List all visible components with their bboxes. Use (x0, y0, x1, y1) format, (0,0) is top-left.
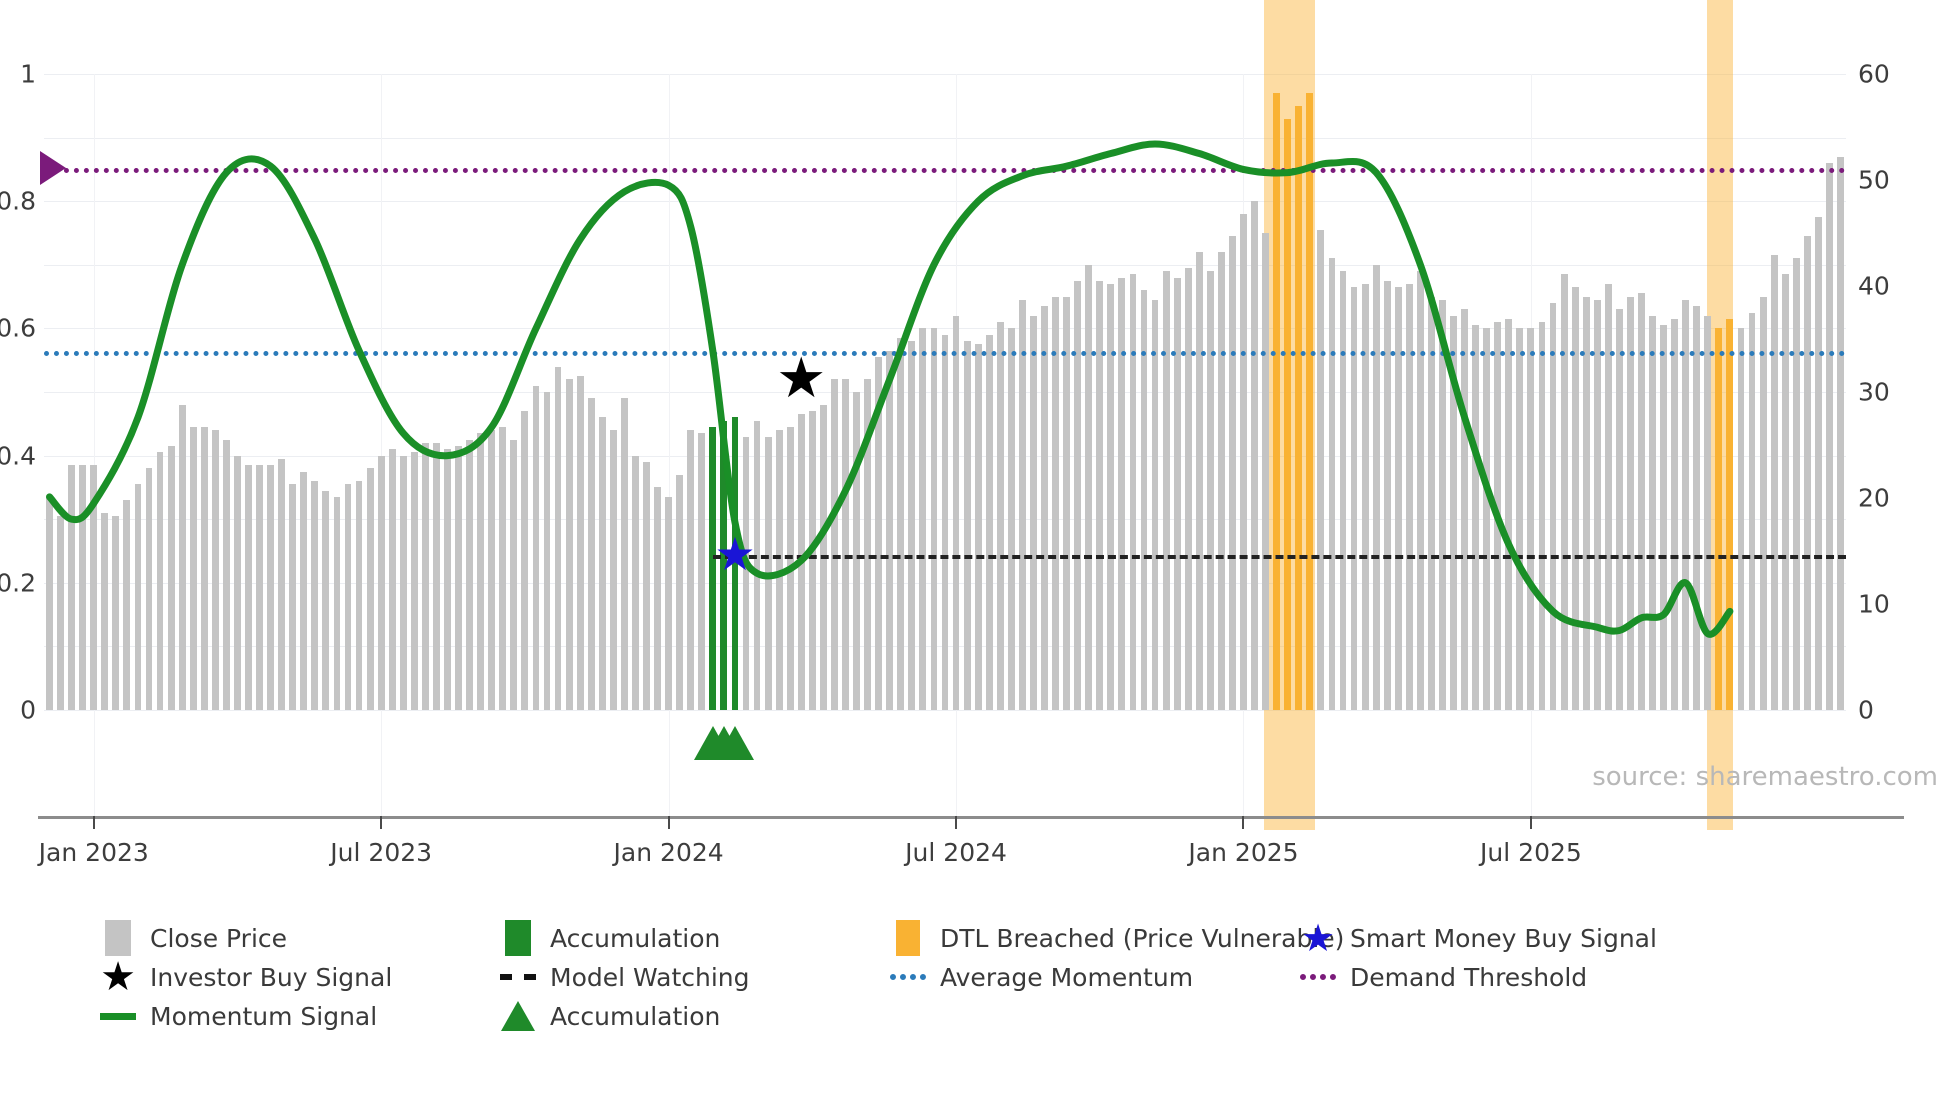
legend-swatch-shape (505, 920, 531, 956)
legend-swatch-shape (896, 920, 920, 956)
y-axis-right-tick: 50 (1858, 168, 1890, 193)
legend-swatch-line-dot-purple-icon (1300, 959, 1336, 995)
legend-item[interactable]: DTL Breached (Price Vulnerable) (890, 920, 1344, 956)
accumulation-triangle-icon (716, 726, 754, 760)
y-axis-right-tick: 20 (1858, 486, 1890, 511)
legend-item[interactable]: Demand Threshold (1300, 959, 1587, 995)
legend-item[interactable]: Momentum Signal (100, 998, 377, 1034)
x-axis-tick-label: Jan 2024 (614, 838, 724, 867)
y-axis-right-tick: 0 (1858, 698, 1874, 723)
y-axis-left-tick: 0.8 (0, 189, 36, 214)
y-axis-left-tick: 0 (20, 698, 36, 723)
chart-legend: Close PriceAccumulationDTL Breached (Pri… (100, 920, 1910, 1037)
legend-label: Model Watching (550, 963, 750, 992)
legend-label: Close Price (150, 924, 287, 953)
legend-swatch-rect-gray-icon (100, 920, 136, 956)
legend-swatch-star-blue-icon: ★ (1300, 920, 1336, 956)
x-axis-tick-mark (1242, 816, 1244, 829)
legend-swatch-shape (105, 920, 131, 956)
legend-label: Demand Threshold (1350, 963, 1587, 992)
legend-swatch-shape: ★ (1301, 919, 1335, 957)
x-axis-tick-mark (668, 816, 670, 829)
x-axis-tick-label: Jul 2023 (330, 838, 432, 867)
x-axis-tick-label: Jan 2025 (1188, 838, 1298, 867)
smart-money-buy-signal-marker: ★ (714, 531, 755, 577)
x-axis-tick-label: Jul 2024 (905, 838, 1007, 867)
legend-label: Accumulation (550, 1002, 720, 1031)
x-axis-tick-mark (93, 816, 95, 829)
legend-item[interactable]: ★Smart Money Buy Signal (1300, 920, 1657, 956)
y-axis-right-tick: 30 (1858, 380, 1890, 405)
legend-row: Close PriceAccumulationDTL Breached (Pri… (100, 920, 1910, 959)
y-axis-right: 0102030405060 (1852, 74, 1922, 710)
legend-item[interactable]: Average Momentum (890, 959, 1193, 995)
legend-item[interactable]: Close Price (100, 920, 287, 956)
legend-row: ★Investor Buy SignalModel WatchingAverag… (100, 959, 1910, 998)
legend-swatch-line-dashed-icon (500, 959, 536, 995)
legend-item[interactable]: ★Investor Buy Signal (100, 959, 392, 995)
x-axis-tick-label: Jan 2023 (39, 838, 149, 867)
legend-item[interactable]: Model Watching (500, 959, 750, 995)
x-axis-tick-mark (955, 816, 957, 829)
gridline (44, 710, 1846, 711)
legend-swatch-line-green-icon (100, 998, 136, 1034)
legend-swatch-rect-orange-icon (890, 920, 926, 956)
chart-root: 00.20.40.60.81 0102030405060 ★ ★ Jan 202… (0, 0, 1960, 1102)
legend-label: Investor Buy Signal (150, 963, 392, 992)
legend-swatch-shape (500, 974, 536, 980)
legend-label: Accumulation (550, 924, 720, 953)
legend-label: Smart Money Buy Signal (1350, 924, 1657, 953)
legend-swatch-tri-green-icon (500, 998, 536, 1034)
x-axis-tick-mark (1530, 816, 1532, 829)
y-axis-left: 00.20.40.60.81 (0, 74, 40, 710)
legend-swatch-star-black-icon: ★ (100, 959, 136, 995)
accumulation-triangle-markers (44, 726, 1846, 776)
y-axis-right-tick: 60 (1858, 62, 1890, 87)
legend-label: Momentum Signal (150, 1002, 377, 1031)
legend-swatch-shape (100, 1013, 136, 1020)
y-axis-left-tick: 1 (20, 62, 36, 87)
x-axis-tick-mark (380, 816, 382, 829)
x-axis-tick-label: Jul 2025 (1480, 838, 1582, 867)
legend-swatch-shape (501, 1001, 535, 1031)
y-axis-right-tick: 10 (1858, 592, 1890, 617)
investor-buy-signal-marker: ★ (776, 351, 826, 407)
momentum-signal-curve (44, 74, 1846, 710)
legend-swatch-rect-green-icon (500, 920, 536, 956)
legend-swatch-shape (890, 974, 926, 980)
legend-swatch-shape (1300, 974, 1336, 980)
legend-item[interactable]: Accumulation (500, 998, 720, 1034)
legend-label: Average Momentum (940, 963, 1193, 992)
plot-area: ★ ★ (44, 74, 1846, 710)
legend-label: DTL Breached (Price Vulnerable) (940, 924, 1344, 953)
legend-swatch-shape: ★ (100, 957, 136, 997)
y-axis-left-tick: 0.2 (0, 570, 36, 595)
x-axis-line (38, 816, 1904, 819)
legend-row: Momentum SignalAccumulation (100, 998, 1910, 1037)
y-axis-right-tick: 40 (1858, 274, 1890, 299)
y-axis-left-tick: 0.4 (0, 443, 36, 468)
source-attribution: source: sharemaestro.com (1592, 762, 1938, 792)
y-axis-left-tick: 0.6 (0, 316, 36, 341)
legend-item[interactable]: Accumulation (500, 920, 720, 956)
legend-swatch-line-dot-blue-icon (890, 959, 926, 995)
